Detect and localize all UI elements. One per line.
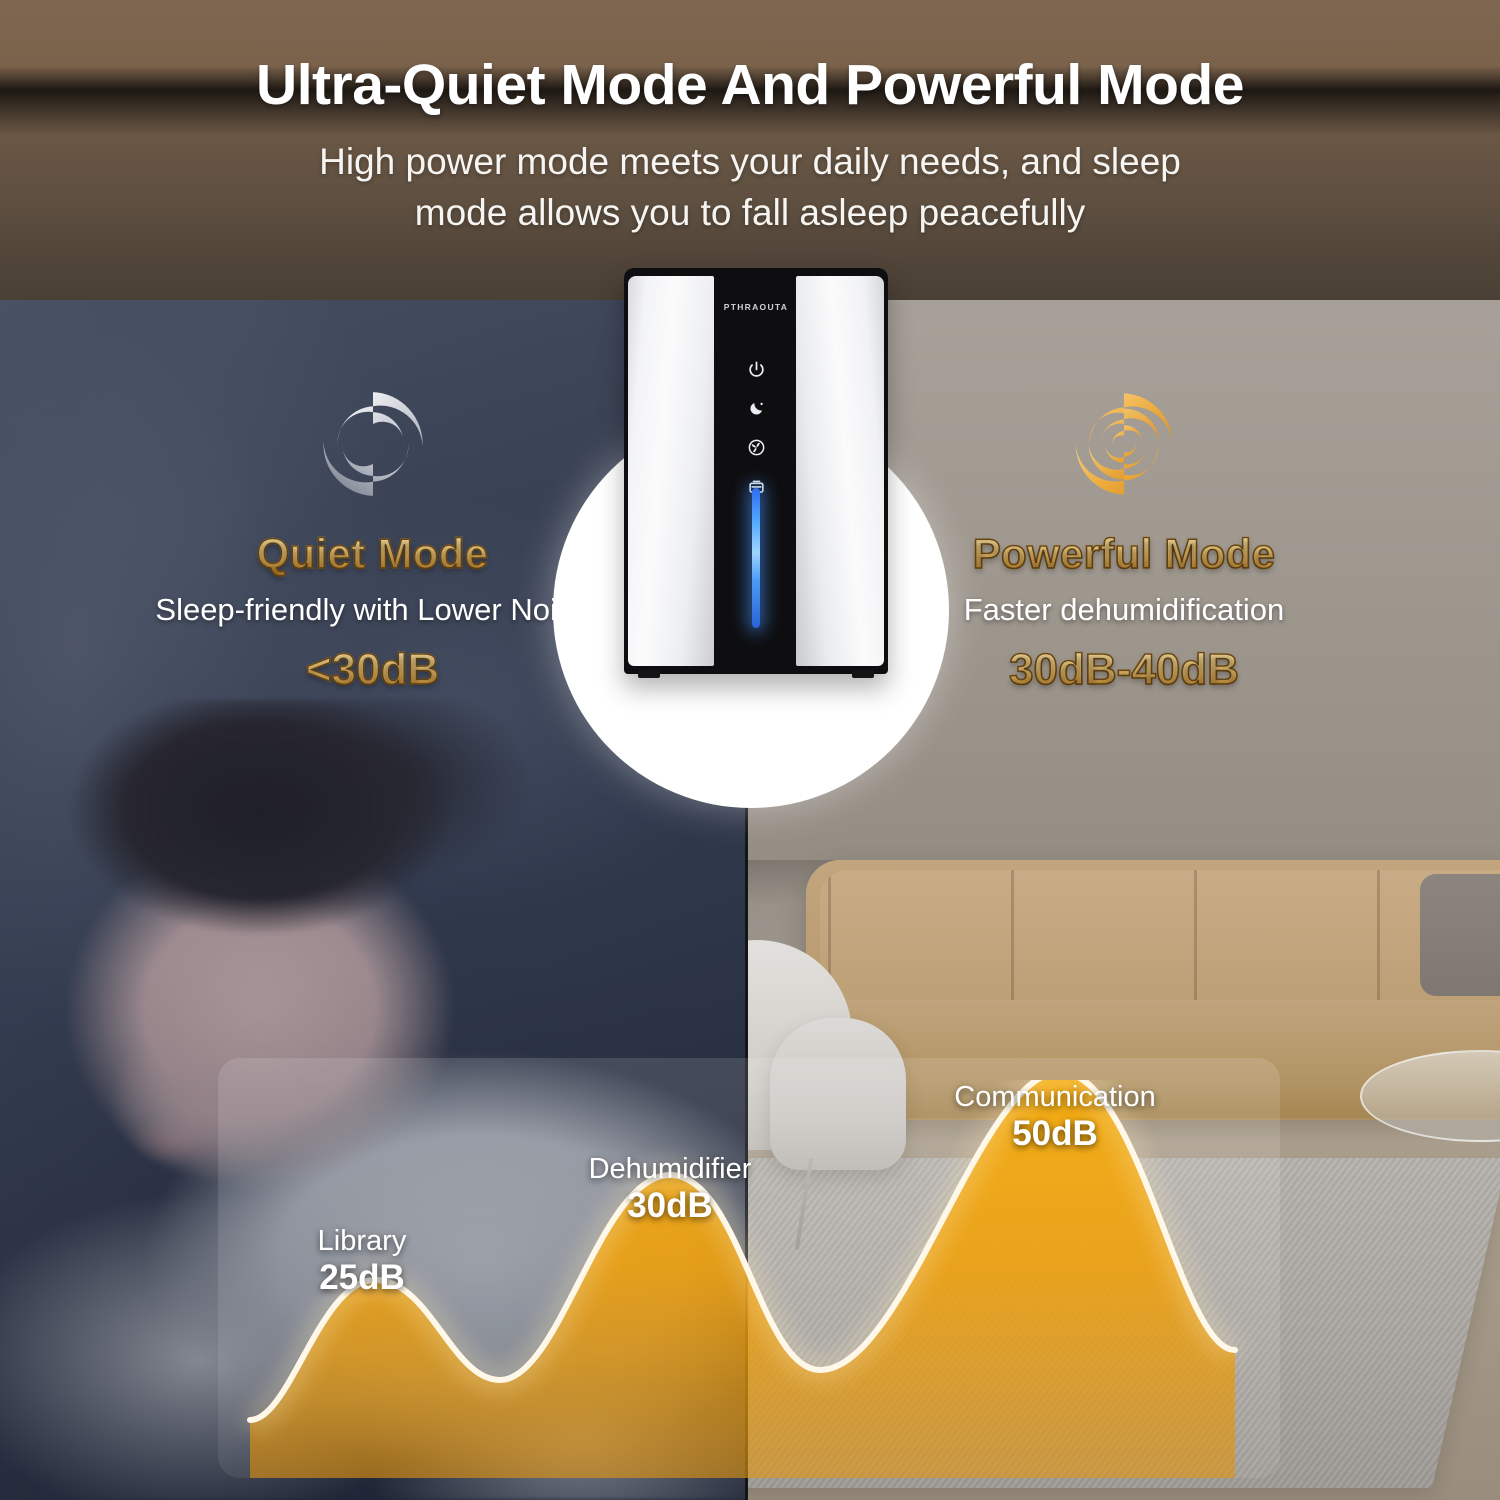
dehumidifier-label-name: Dehumidifier [545, 1154, 795, 1185]
quiet-mode-title: Quiet Mode [257, 530, 489, 578]
header-banner: Ultra-Quiet Mode And Powerful Mode High … [0, 0, 1500, 300]
device-right-panel [796, 276, 884, 666]
library-label-name: Library [252, 1226, 472, 1257]
noise-wave-chart [0, 1080, 1500, 1500]
blue-led-strip [752, 488, 760, 628]
quiet-mode-db-value: <30dB [306, 645, 439, 695]
device-left-panel [628, 276, 714, 666]
wave-label-dehumidifier: Dehumidifier 30dB [545, 1154, 795, 1228]
powerful-mode-db-value: 30dB-40dB [1009, 645, 1239, 695]
power-icon[interactable] [747, 360, 766, 379]
library-label-value: 25dB [252, 1257, 472, 1300]
device-foot-right [852, 670, 874, 678]
swirl-vortex-icon-gold [1065, 385, 1183, 503]
sleep-moon-icon[interactable] [747, 399, 766, 418]
wave-label-communication: Communication 50dB [905, 1082, 1205, 1156]
dehumidifier-product: PTHRAOUTA [624, 268, 888, 688]
powerful-mode-title: Powerful Mode [973, 530, 1276, 578]
swirl-vortex-icon-silver [314, 385, 432, 503]
page-title: Ultra-Quiet Mode And Powerful Mode [256, 52, 1244, 118]
brand-label: PTHRAOUTA [624, 302, 888, 312]
wave-label-library: Library 25dB [252, 1226, 472, 1300]
device-control-panel [736, 360, 776, 496]
quiet-mode-description: Sleep-friendly with Lower Noise [155, 592, 589, 628]
communication-label-value: 50dB [905, 1113, 1205, 1156]
device-foot-left [638, 670, 660, 678]
product-feature-image: Ultra-Quiet Mode And Powerful Mode High … [0, 0, 1500, 1500]
fan-speed-icon[interactable] [747, 438, 766, 457]
communication-label-name: Communication [905, 1082, 1205, 1113]
subtitle-line-1: High power mode meets your daily needs, … [319, 137, 1181, 188]
page-subtitle: High power mode meets your daily needs, … [319, 137, 1181, 238]
powerful-mode-description: Faster dehumidification [964, 592, 1285, 628]
dehumidifier-label-value: 30dB [545, 1185, 795, 1228]
subtitle-line-2: mode allows you to fall asleep peacefull… [319, 188, 1181, 239]
